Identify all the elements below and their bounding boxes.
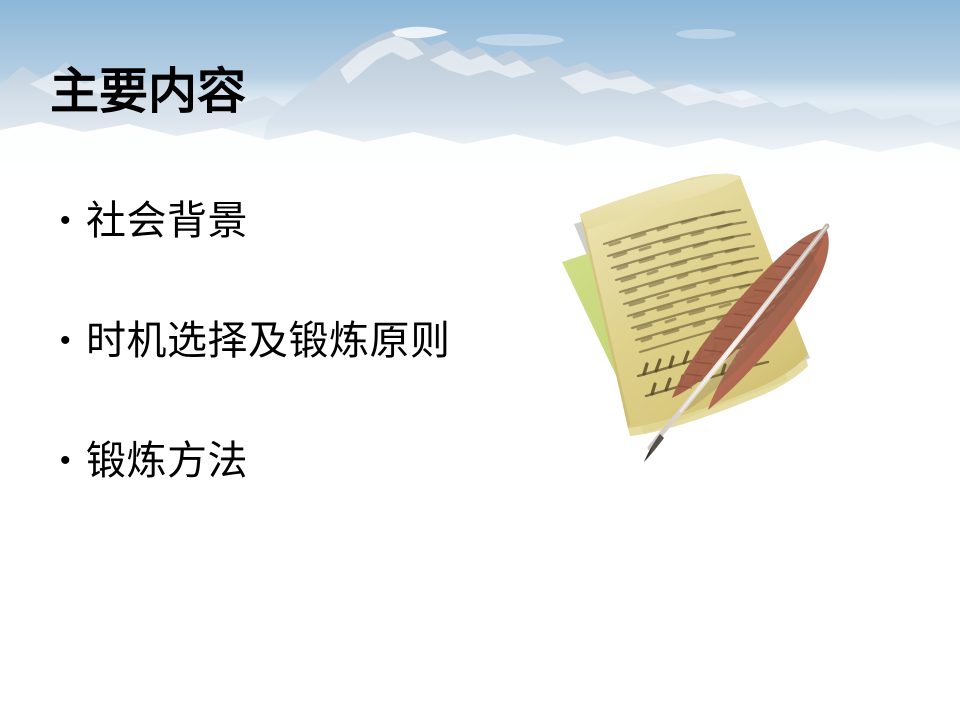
list-item: • 社会背景 bbox=[56, 196, 526, 316]
bullet-dot-icon: • bbox=[56, 196, 86, 246]
bullet-dot-icon: • bbox=[56, 316, 86, 366]
parchment-quill-image bbox=[540, 158, 850, 483]
bullet-list: • 社会背景 • 时机选择及锻炼原则 • 锻炼方法 bbox=[56, 196, 526, 556]
slide: 主要内容 • 社会背景 • 时机选择及锻炼原则 • 锻炼方法 bbox=[0, 0, 960, 720]
bullet-text: 社会背景 bbox=[86, 196, 248, 246]
bullet-dot-icon: • bbox=[56, 436, 86, 486]
bullet-text: 锻炼方法 bbox=[86, 436, 248, 486]
slide-title: 主要内容 bbox=[50, 63, 246, 121]
list-item: • 时机选择及锻炼原则 bbox=[56, 316, 526, 436]
bullet-text: 时机选择及锻炼原则 bbox=[86, 316, 451, 366]
list-item: • 锻炼方法 bbox=[56, 436, 526, 556]
